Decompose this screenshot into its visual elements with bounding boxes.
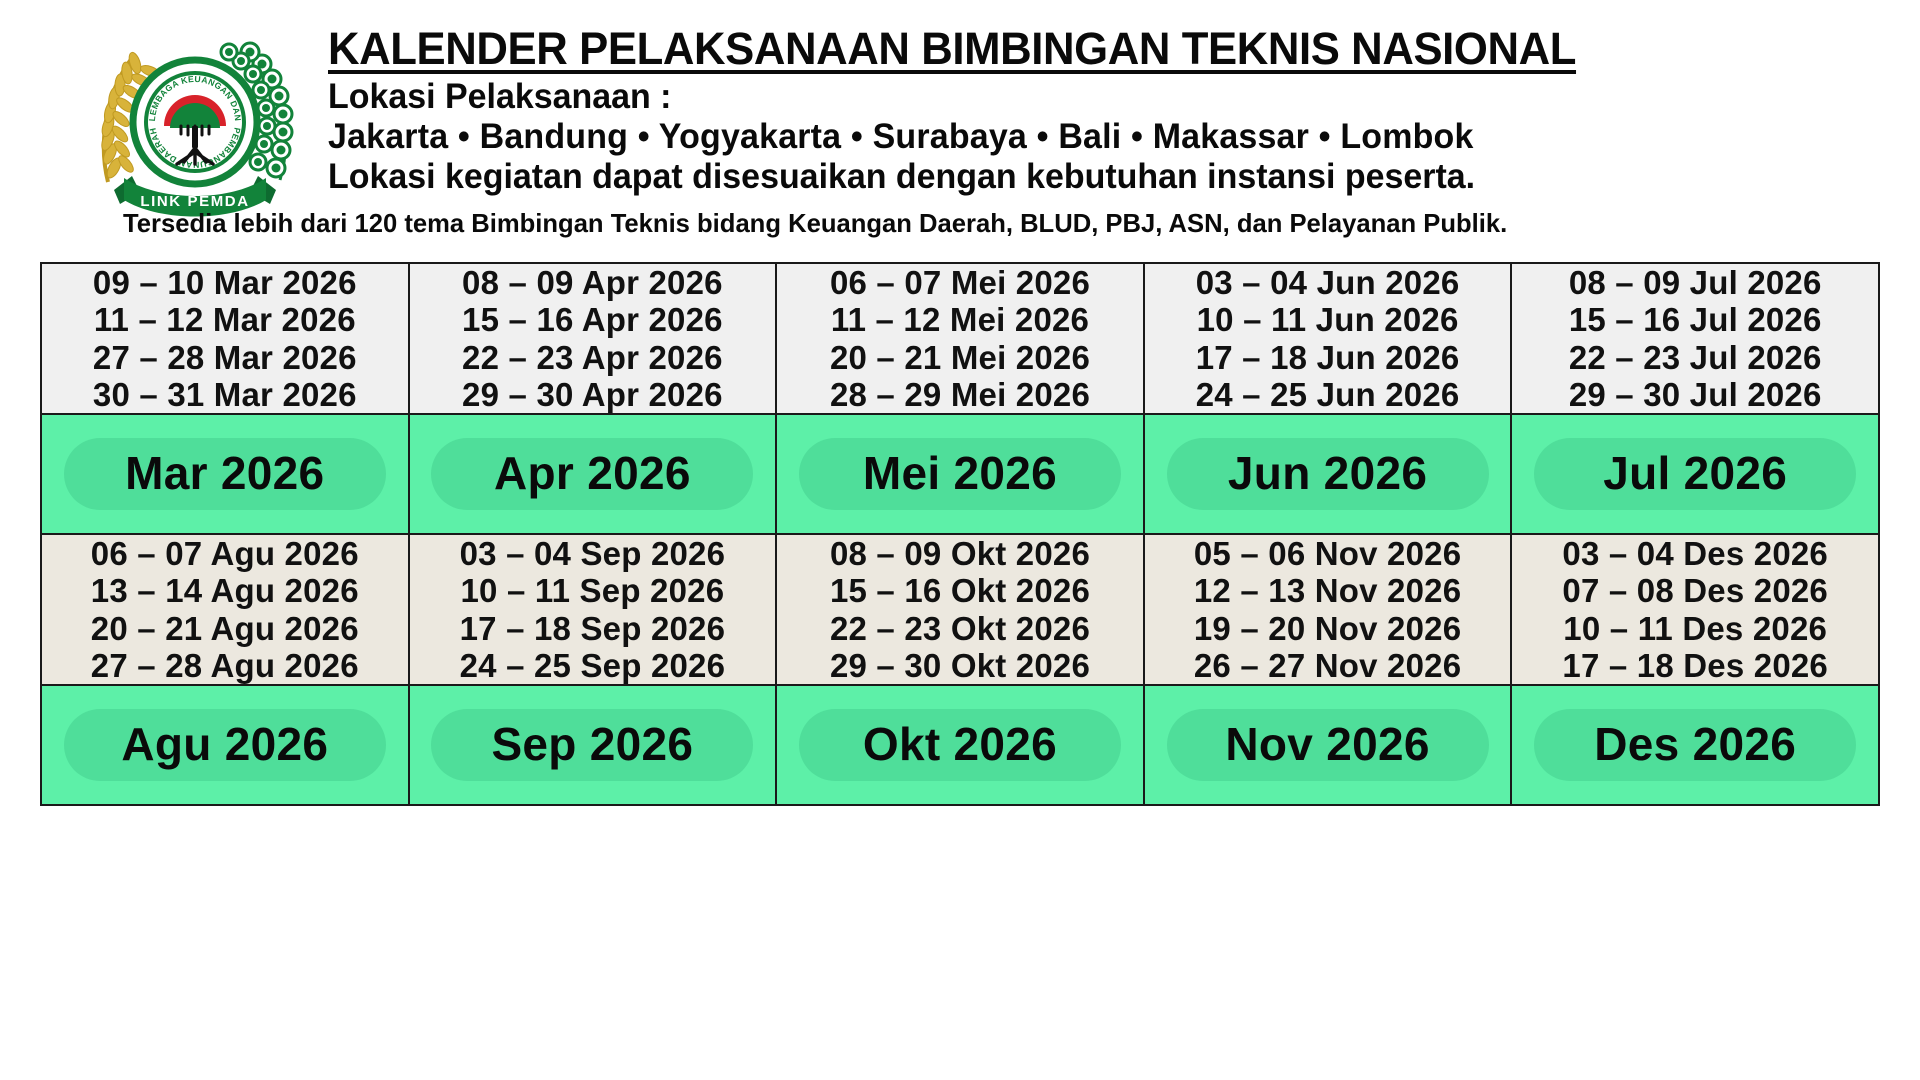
date-line: 08 – 09 Okt 2026 — [777, 535, 1143, 572]
date-line: 17 – 18 Sep 2026 — [410, 610, 776, 647]
date-line: 10 – 11 Des 2026 — [1512, 610, 1878, 647]
date-line: 08 – 09 Apr 2026 — [410, 264, 776, 301]
date-line: 20 – 21 Mei 2026 — [777, 339, 1143, 376]
date-line: 07 – 08 Des 2026 — [1512, 572, 1878, 609]
dates-cell-sep: 03 – 04 Sep 2026 10 – 11 Sep 2026 17 – 1… — [409, 534, 777, 685]
date-line: 19 – 20 Nov 2026 — [1145, 610, 1511, 647]
month-label: Nov 2026 — [1225, 718, 1429, 770]
month-cell-jul[interactable]: Jul 2026 — [1511, 414, 1879, 534]
locations-line: Jakarta • Bandung • Yogyakarta • Surabay… — [328, 117, 1872, 157]
month-label: Mar 2026 — [125, 447, 324, 499]
date-line: 06 – 07 Agu 2026 — [42, 535, 408, 572]
date-line: 22 – 23 Jul 2026 — [1512, 339, 1878, 376]
month-pill: Sep 2026 — [431, 709, 753, 781]
month-cell-mar[interactable]: Mar 2026 — [41, 414, 409, 534]
calendar-table: 09 – 10 Mar 2026 11 – 12 Mar 2026 27 – 2… — [40, 262, 1880, 806]
date-line: 22 – 23 Okt 2026 — [777, 610, 1143, 647]
month-pill: Mei 2026 — [799, 438, 1121, 510]
location-label: Lokasi Pelaksanaan : — [328, 77, 1872, 117]
date-line: 13 – 14 Agu 2026 — [42, 572, 408, 609]
month-pill: Jul 2026 — [1534, 438, 1856, 510]
month-label: Des 2026 — [1594, 718, 1796, 770]
header-text-block: KALENDER PELAKSANAAN BIMBINGAN TEKNIS NA… — [310, 16, 1920, 240]
month-cell-okt[interactable]: Okt 2026 — [776, 685, 1144, 805]
month-row-first-half: Mar 2026 Apr 2026 Mei 2026 Jun 2026 — [41, 414, 1879, 534]
month-label: Okt 2026 — [863, 718, 1057, 770]
date-line: 29 – 30 Apr 2026 — [410, 376, 776, 413]
calendar-body: 09 – 10 Mar 2026 11 – 12 Mar 2026 27 – 2… — [41, 263, 1879, 805]
dates-row-second-half: 06 – 07 Agu 2026 13 – 14 Agu 2026 20 – 2… — [41, 534, 1879, 685]
date-line: 08 – 09 Jul 2026 — [1512, 264, 1878, 301]
date-line: 24 – 25 Sep 2026 — [410, 647, 776, 684]
month-cell-agu[interactable]: Agu 2026 — [41, 685, 409, 805]
date-line: 29 – 30 Jul 2026 — [1512, 376, 1878, 413]
emblem-circle-icon: LEMBAGA KEUANGAN DAN PEMBANGUNAN DAERAH — [133, 60, 257, 184]
month-row-second-half: Agu 2026 Sep 2026 Okt 2026 Nov 2026 — [41, 685, 1879, 805]
date-line: 11 – 12 Mar 2026 — [42, 301, 408, 338]
month-label: Apr 2026 — [494, 447, 691, 499]
date-line: 28 – 29 Mei 2026 — [777, 376, 1143, 413]
page-title: KALENDER PELAKSANAAN BIMBINGAN TEKNIS NA… — [328, 26, 1872, 73]
date-line: 03 – 04 Sep 2026 — [410, 535, 776, 572]
link-pemda-logo: LEMBAGA KEUANGAN DAN PEMBANGUNAN DAERAH — [80, 22, 310, 232]
dates-cell-jul: 08 – 09 Jul 2026 15 – 16 Jul 2026 22 – 2… — [1511, 263, 1879, 414]
month-cell-sep[interactable]: Sep 2026 — [409, 685, 777, 805]
date-line: 24 – 25 Jun 2026 — [1145, 376, 1511, 413]
date-line: 10 – 11 Jun 2026 — [1145, 301, 1511, 338]
location-note: Lokasi kegiatan dapat disesuaikan dengan… — [328, 157, 1872, 197]
month-pill: Agu 2026 — [64, 709, 386, 781]
dates-cell-mei: 06 – 07 Mei 2026 11 – 12 Mei 2026 20 – 2… — [776, 263, 1144, 414]
date-line: 15 – 16 Okt 2026 — [777, 572, 1143, 609]
date-line: 29 – 30 Okt 2026 — [777, 647, 1143, 684]
dates-cell-apr: 08 – 09 Apr 2026 15 – 16 Apr 2026 22 – 2… — [409, 263, 777, 414]
date-line: 03 – 04 Jun 2026 — [1145, 264, 1511, 301]
dates-cell-des: 03 – 04 Des 2026 07 – 08 Des 2026 10 – 1… — [1511, 534, 1879, 685]
date-line: 03 – 04 Des 2026 — [1512, 535, 1878, 572]
date-line: 20 – 21 Agu 2026 — [42, 610, 408, 647]
month-cell-des[interactable]: Des 2026 — [1511, 685, 1879, 805]
calendar-poster: LEMBAGA KEUANGAN DAN PEMBANGUNAN DAERAH — [0, 0, 1920, 1080]
month-pill: Jun 2026 — [1167, 438, 1489, 510]
month-cell-nov[interactable]: Nov 2026 — [1144, 685, 1512, 805]
date-line: 17 – 18 Des 2026 — [1512, 647, 1878, 684]
date-line: 10 – 11 Sep 2026 — [410, 572, 776, 609]
svg-text:LINK PEMDA: LINK PEMDA — [140, 193, 249, 210]
month-label: Jul 2026 — [1603, 447, 1787, 499]
dates-cell-mar: 09 – 10 Mar 2026 11 – 12 Mar 2026 27 – 2… — [41, 263, 409, 414]
dates-cell-okt: 08 – 09 Okt 2026 15 – 16 Okt 2026 22 – 2… — [776, 534, 1144, 685]
date-line: 27 – 28 Agu 2026 — [42, 647, 408, 684]
dates-cell-nov: 05 – 06 Nov 2026 12 – 13 Nov 2026 19 – 2… — [1144, 534, 1512, 685]
month-label: Mei 2026 — [863, 447, 1057, 499]
month-pill: Okt 2026 — [799, 709, 1121, 781]
month-cell-mei[interactable]: Mei 2026 — [776, 414, 1144, 534]
dates-cell-jun: 03 – 04 Jun 2026 10 – 11 Jun 2026 17 – 1… — [1144, 263, 1512, 414]
month-pill: Nov 2026 — [1167, 709, 1489, 781]
date-line: 22 – 23 Apr 2026 — [410, 339, 776, 376]
month-cell-jun[interactable]: Jun 2026 — [1144, 414, 1512, 534]
month-pill: Mar 2026 — [64, 438, 386, 510]
month-label: Jun 2026 — [1228, 447, 1427, 499]
month-label: Sep 2026 — [491, 718, 693, 770]
date-line: 05 – 06 Nov 2026 — [1145, 535, 1511, 572]
dates-row-first-half: 09 – 10 Mar 2026 11 – 12 Mar 2026 27 – 2… — [41, 263, 1879, 414]
date-line: 26 – 27 Nov 2026 — [1145, 647, 1511, 684]
dates-cell-agu: 06 – 07 Agu 2026 13 – 14 Agu 2026 20 – 2… — [41, 534, 409, 685]
month-pill: Apr 2026 — [431, 438, 753, 510]
date-line: 15 – 16 Jul 2026 — [1512, 301, 1878, 338]
month-pill: Des 2026 — [1534, 709, 1856, 781]
month-label: Agu 2026 — [121, 718, 328, 770]
date-line: 12 – 13 Nov 2026 — [1145, 572, 1511, 609]
date-line: 11 – 12 Mei 2026 — [777, 301, 1143, 338]
date-line: 06 – 07 Mei 2026 — [777, 264, 1143, 301]
date-line: 27 – 28 Mar 2026 — [42, 339, 408, 376]
date-line: 30 – 31 Mar 2026 — [42, 376, 408, 413]
tagline: Tersedia lebih dari 120 tema Bimbingan T… — [123, 208, 1893, 239]
date-line: 09 – 10 Mar 2026 — [42, 264, 408, 301]
poster-header: LEMBAGA KEUANGAN DAN PEMBANGUNAN DAERAH — [0, 0, 1920, 262]
month-cell-apr[interactable]: Apr 2026 — [409, 414, 777, 534]
date-line: 15 – 16 Apr 2026 — [410, 301, 776, 338]
date-line: 17 – 18 Jun 2026 — [1145, 339, 1511, 376]
